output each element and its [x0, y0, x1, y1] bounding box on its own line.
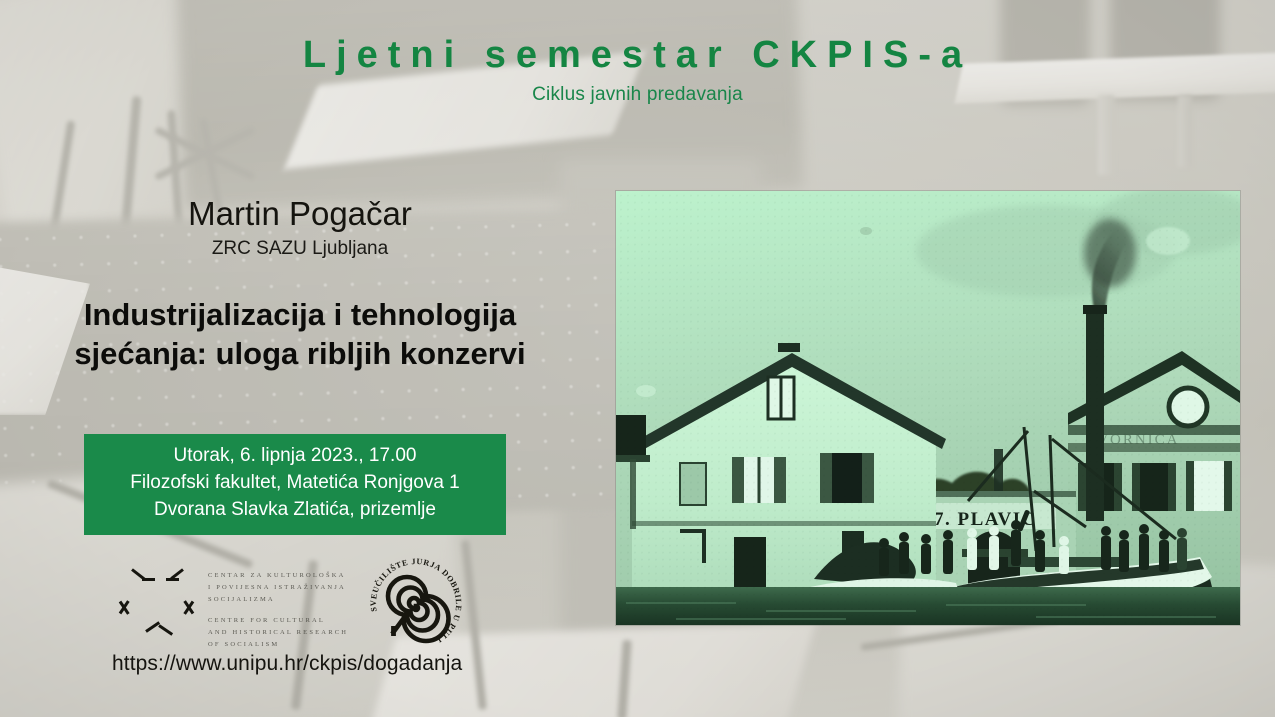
lecture-title-line-2: sjećanja: uloga ribljih konzervi	[0, 335, 600, 374]
speaker-affiliation: ZRC SAZU Ljubljana	[0, 238, 600, 260]
event-url[interactable]: https://www.unipu.hr/ckpis/dogadanja	[112, 652, 462, 676]
ckpis-croatian-line-2: I POVIJESNA ISTRAŽIVANJA	[208, 582, 348, 594]
event-room: Dvorana Slavka Zlatića, prizemlje	[84, 497, 506, 524]
svg-text:SVEUČILIŠTE JURJA DOBRILE U PU: SVEUČILIŠTE JURJA DOBRILE U PULI	[370, 558, 462, 645]
event-datetime: Utorak, 6. lipnja 2023., 17.00	[84, 443, 506, 470]
ckpis-croatian-line-3: SOCIJALIZMA	[208, 594, 348, 606]
ckpis-english-line-2: AND HISTORICAL RESEARCH	[208, 627, 348, 639]
ckpis-english-line-3: OF SOCIALISM	[208, 639, 348, 651]
page-subtitle: Ciklus javnih predavanja	[0, 84, 1275, 106]
ckpis-logo-text: CENTAR ZA KULTUROLOŠKA I POVIJESNA ISTRA…	[208, 570, 348, 651]
ckpis-english-line-1: CENTRE FOR CULTURAL	[208, 615, 348, 627]
historical-cannery-photo: TVORNICA	[616, 191, 1240, 625]
lecture-title: Industrijalizacija i tehnologija sjećanj…	[0, 296, 600, 374]
poster: Ljetni semestar CKPIS-a Ciklus javnih pr…	[0, 0, 1275, 717]
logo-row: CENTAR ZA KULTUROLOŠKA I POVIJESNA ISTRA…	[112, 556, 492, 648]
event-info-box: Utorak, 6. lipnja 2023., 17.00 Filozofsk…	[84, 434, 506, 535]
spiral-icon: SVEUČILIŠTE JURJA DOBRILE U PULI	[370, 558, 462, 650]
lecture-title-line-1: Industrijalizacija i tehnologija	[0, 296, 600, 335]
photo-grain-overlay	[616, 191, 1240, 625]
event-address: Filozofski fakultet, Matetića Ronjgova 1	[84, 470, 506, 497]
page-title: Ljetni semestar CKPIS-a	[0, 36, 1275, 76]
university-logo: SVEUČILIŠTE JURJA DOBRILE U PULI	[370, 558, 462, 650]
ckpis-mark-icon	[118, 562, 200, 642]
ckpis-croatian-line-1: CENTAR ZA KULTUROLOŠKA	[208, 570, 348, 582]
header: Ljetni semestar CKPIS-a Ciklus javnih pr…	[0, 36, 1275, 106]
speaker-name: Martin Pogačar	[0, 196, 600, 232]
